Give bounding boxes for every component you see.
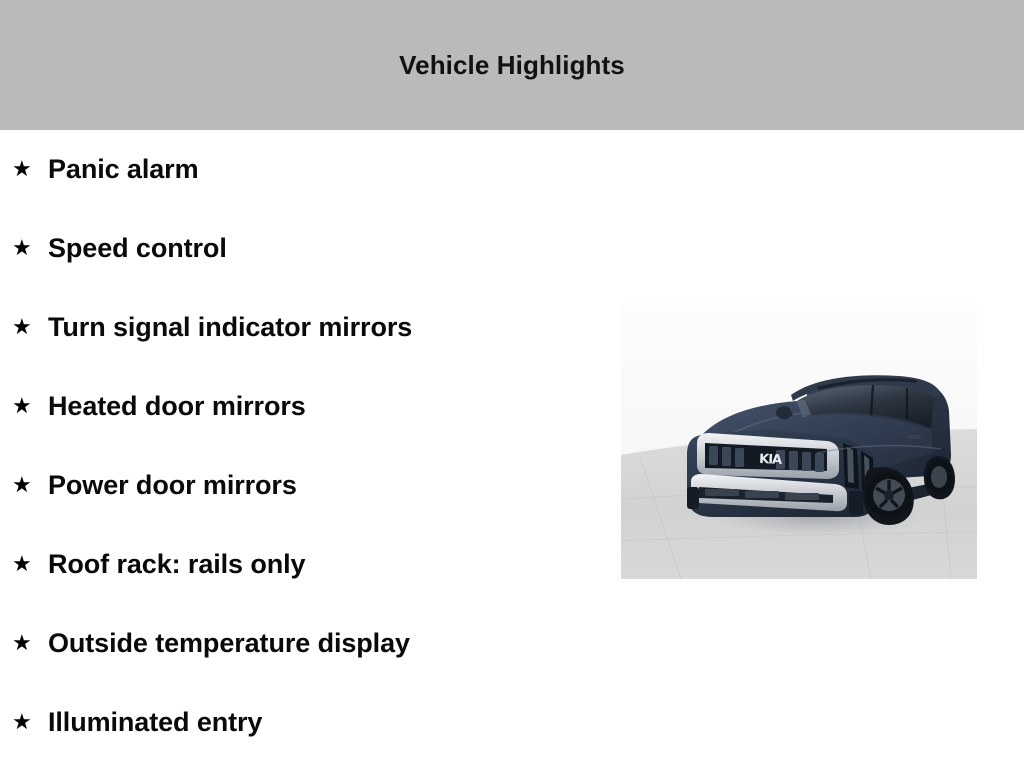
list-item: ★ Roof rack: rails only <box>0 525 600 604</box>
star-bullet-icon: ★ <box>12 630 34 658</box>
star-bullet-icon: ★ <box>12 472 34 500</box>
list-item: ★ Heated door mirrors <box>0 367 600 446</box>
list-item-label: Speed control <box>48 233 227 264</box>
list-item: ★ Power door mirrors <box>0 446 600 525</box>
star-bullet-icon: ★ <box>12 709 34 737</box>
list-item: ★ Illuminated entry <box>0 683 600 762</box>
list-item: ★ Turn signal indicator mirrors <box>0 288 600 367</box>
list-item: ★ Speed control <box>0 209 600 288</box>
vehicle-photo: KIA <box>621 303 977 579</box>
header-band: Vehicle Highlights <box>0 0 1024 130</box>
star-bullet-icon: ★ <box>12 551 34 579</box>
list-item-label: Illuminated entry <box>48 707 262 738</box>
list-item: ★ Outside temperature display <box>0 604 600 683</box>
page-title: Vehicle Highlights <box>0 0 1024 130</box>
vehicle-highlights-list: ★ Panic alarm ★ Speed control ★ Turn sig… <box>0 130 600 762</box>
star-bullet-icon: ★ <box>12 156 34 184</box>
list-item-label: Power door mirrors <box>48 470 297 501</box>
list-item-label: Panic alarm <box>48 154 199 185</box>
star-bullet-icon: ★ <box>12 235 34 263</box>
list-item-label: Outside temperature display <box>48 628 410 659</box>
star-bullet-icon: ★ <box>12 393 34 421</box>
list-item-label: Heated door mirrors <box>48 391 306 422</box>
list-item-label: Roof rack: rails only <box>48 549 305 580</box>
star-bullet-icon: ★ <box>12 314 34 342</box>
vehicle-photo-illustration: KIA <box>621 303 977 579</box>
headlight-left <box>843 443 859 489</box>
list-item: ★ Panic alarm <box>0 130 600 209</box>
kia-badge-icon: KIA <box>759 452 782 468</box>
list-item-label: Turn signal indicator mirrors <box>48 312 412 343</box>
